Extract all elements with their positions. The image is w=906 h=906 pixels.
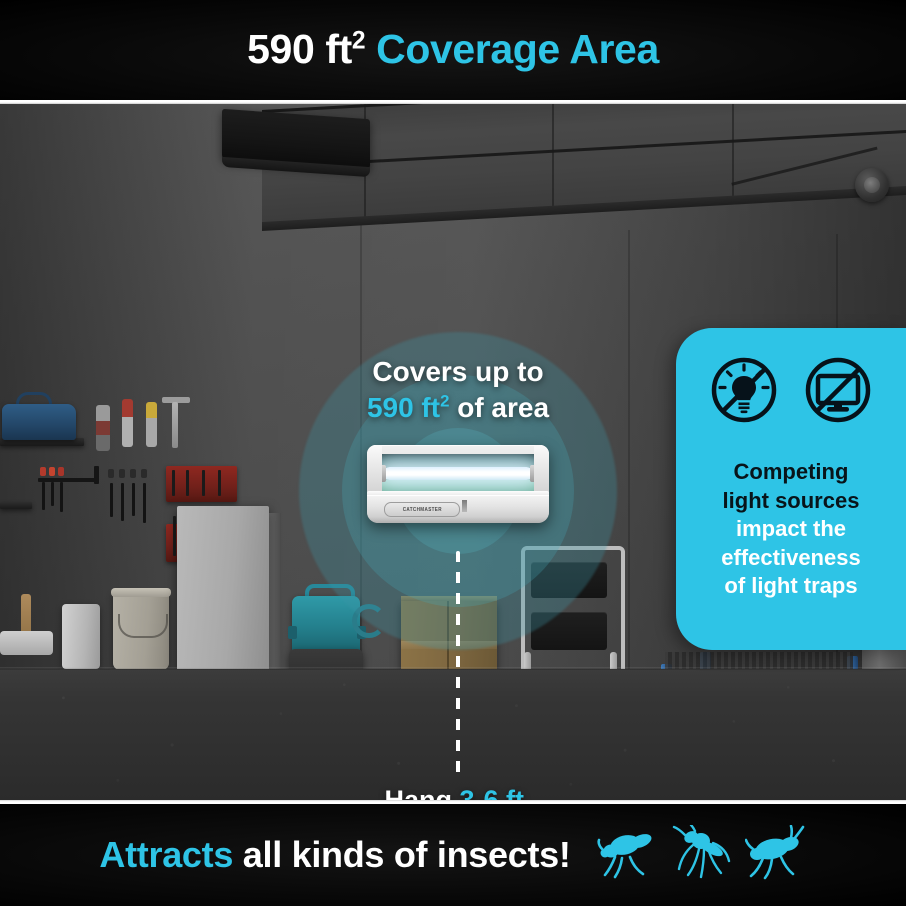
callout-icon-row: [676, 354, 906, 431]
hand-tool-icon: [122, 399, 133, 447]
callout-line-4: effectiveness: [684, 544, 898, 573]
driver-shaft: [172, 470, 175, 496]
pliers-icon: [96, 405, 110, 451]
shop-vac-hose: [352, 604, 386, 638]
device-uv-tube: [383, 467, 533, 480]
callout-body-text: Competing light sources impact the effec…: [684, 458, 898, 601]
cardboard-box-seam: [447, 601, 449, 674]
product-feature-poster: 590 ft2 Coverage Area: [0, 0, 906, 906]
wall-shelf: [0, 502, 32, 509]
callout-line-5: of light traps: [684, 572, 898, 601]
hang-height-value: 3-6 ft.: [460, 785, 532, 800]
light-trap-device: CATCHMASTER: [367, 445, 549, 523]
callout-line-3: impact the: [684, 515, 898, 544]
coverage-callout-text: Covers up to 590 ft2 of area: [248, 354, 668, 426]
hand-tool-icon: [146, 402, 157, 447]
driver-shaft: [186, 470, 189, 496]
paper-roll: [0, 631, 53, 655]
driver-shaft: [60, 482, 63, 512]
device-brand-badge: CATCHMASTER: [384, 502, 460, 517]
title-coverage-value: 590 ft: [247, 26, 352, 72]
bucket-rim: [111, 588, 171, 597]
footer-content-row: Attracts all kinds of insects!: [0, 804, 906, 906]
footer-title-rest: all kinds of insects!: [243, 834, 571, 875]
driver-shaft: [143, 483, 146, 523]
competing-light-callout-panel: Competing light sources impact the effec…: [676, 328, 906, 650]
garage-door-motor-hub: [864, 177, 880, 193]
wall-floor-junction: [0, 667, 906, 670]
step-stool-upper-step: [531, 562, 607, 598]
coverage-value-superscript: 2: [440, 392, 449, 411]
driver-shaft: [51, 482, 54, 506]
shop-vac-motor-head: [292, 596, 360, 652]
title-coverage-area-label: Coverage Area: [376, 26, 659, 72]
hang-prefix: Hang: [384, 785, 452, 800]
header-bar: 590 ft2 Coverage Area: [0, 0, 906, 102]
page-title: 590 ft2 Coverage Area: [0, 26, 906, 72]
garage-scene: CATCHMASTER Covers up to 590 ft2 of area…: [0, 104, 906, 800]
hammer-handle: [172, 402, 178, 448]
fly-icon: [597, 825, 659, 886]
footer-title-highlight: Attracts: [99, 834, 233, 875]
driver-shaft: [218, 470, 221, 496]
no-monitor-icon: [802, 354, 874, 431]
cardboard-box: [401, 601, 497, 674]
footer-title: Attracts all kinds of insects!: [99, 834, 570, 876]
driver-shaft: [121, 483, 124, 521]
wall-seam: [628, 230, 630, 669]
driver-shaft: [132, 483, 135, 516]
driver-handle: [108, 469, 114, 478]
driver-handle: [130, 469, 136, 478]
driver-shaft: [110, 483, 113, 517]
insect-icon-row: [597, 825, 807, 886]
device-brand-label: CATCHMASTER: [402, 507, 441, 513]
callout-line-1: Competing: [684, 458, 898, 487]
cockroach-icon: [745, 825, 807, 886]
mounting-height-guide-line: [456, 551, 460, 777]
white-jug: [62, 604, 100, 669]
coverage-value: 590 ft: [367, 392, 440, 423]
coverage-line1: Covers up to: [372, 356, 543, 387]
hang-height-callout-text: Hang 3-6 ft. off the ground: [238, 782, 678, 800]
title-superscript: 2: [352, 27, 365, 54]
driver-handle: [119, 469, 125, 478]
driver-handle: [49, 467, 55, 476]
callout-line-2: light sources: [684, 487, 898, 516]
floor-texture: [0, 669, 906, 800]
shop-vac-latch: [288, 626, 297, 639]
driver-shaft: [202, 470, 205, 496]
driver-handle: [40, 467, 46, 476]
coverage-line2-rest: of area: [457, 392, 549, 423]
footer-bar: Attracts all kinds of insects!: [0, 804, 906, 906]
device-light-cavity: [378, 454, 538, 494]
cardboard-box-tape: [401, 641, 497, 649]
cabinet-side-panel: [269, 513, 281, 674]
driver-shaft: [173, 516, 176, 556]
step-stool-lower-step: [531, 612, 607, 650]
driver-handle: [58, 467, 64, 476]
mosquito-icon: [671, 825, 733, 886]
driver-shaft: [42, 482, 45, 510]
blue-tool-bag: [2, 404, 76, 440]
tool-peg-bar: [94, 466, 99, 484]
device-badge-flag: [462, 500, 467, 512]
tool-peg-bar: [38, 478, 96, 482]
no-lightbulb-icon: [708, 354, 780, 431]
bucket-handle: [118, 614, 168, 638]
driver-handle: [141, 469, 147, 478]
white-cabinet: [177, 506, 269, 674]
